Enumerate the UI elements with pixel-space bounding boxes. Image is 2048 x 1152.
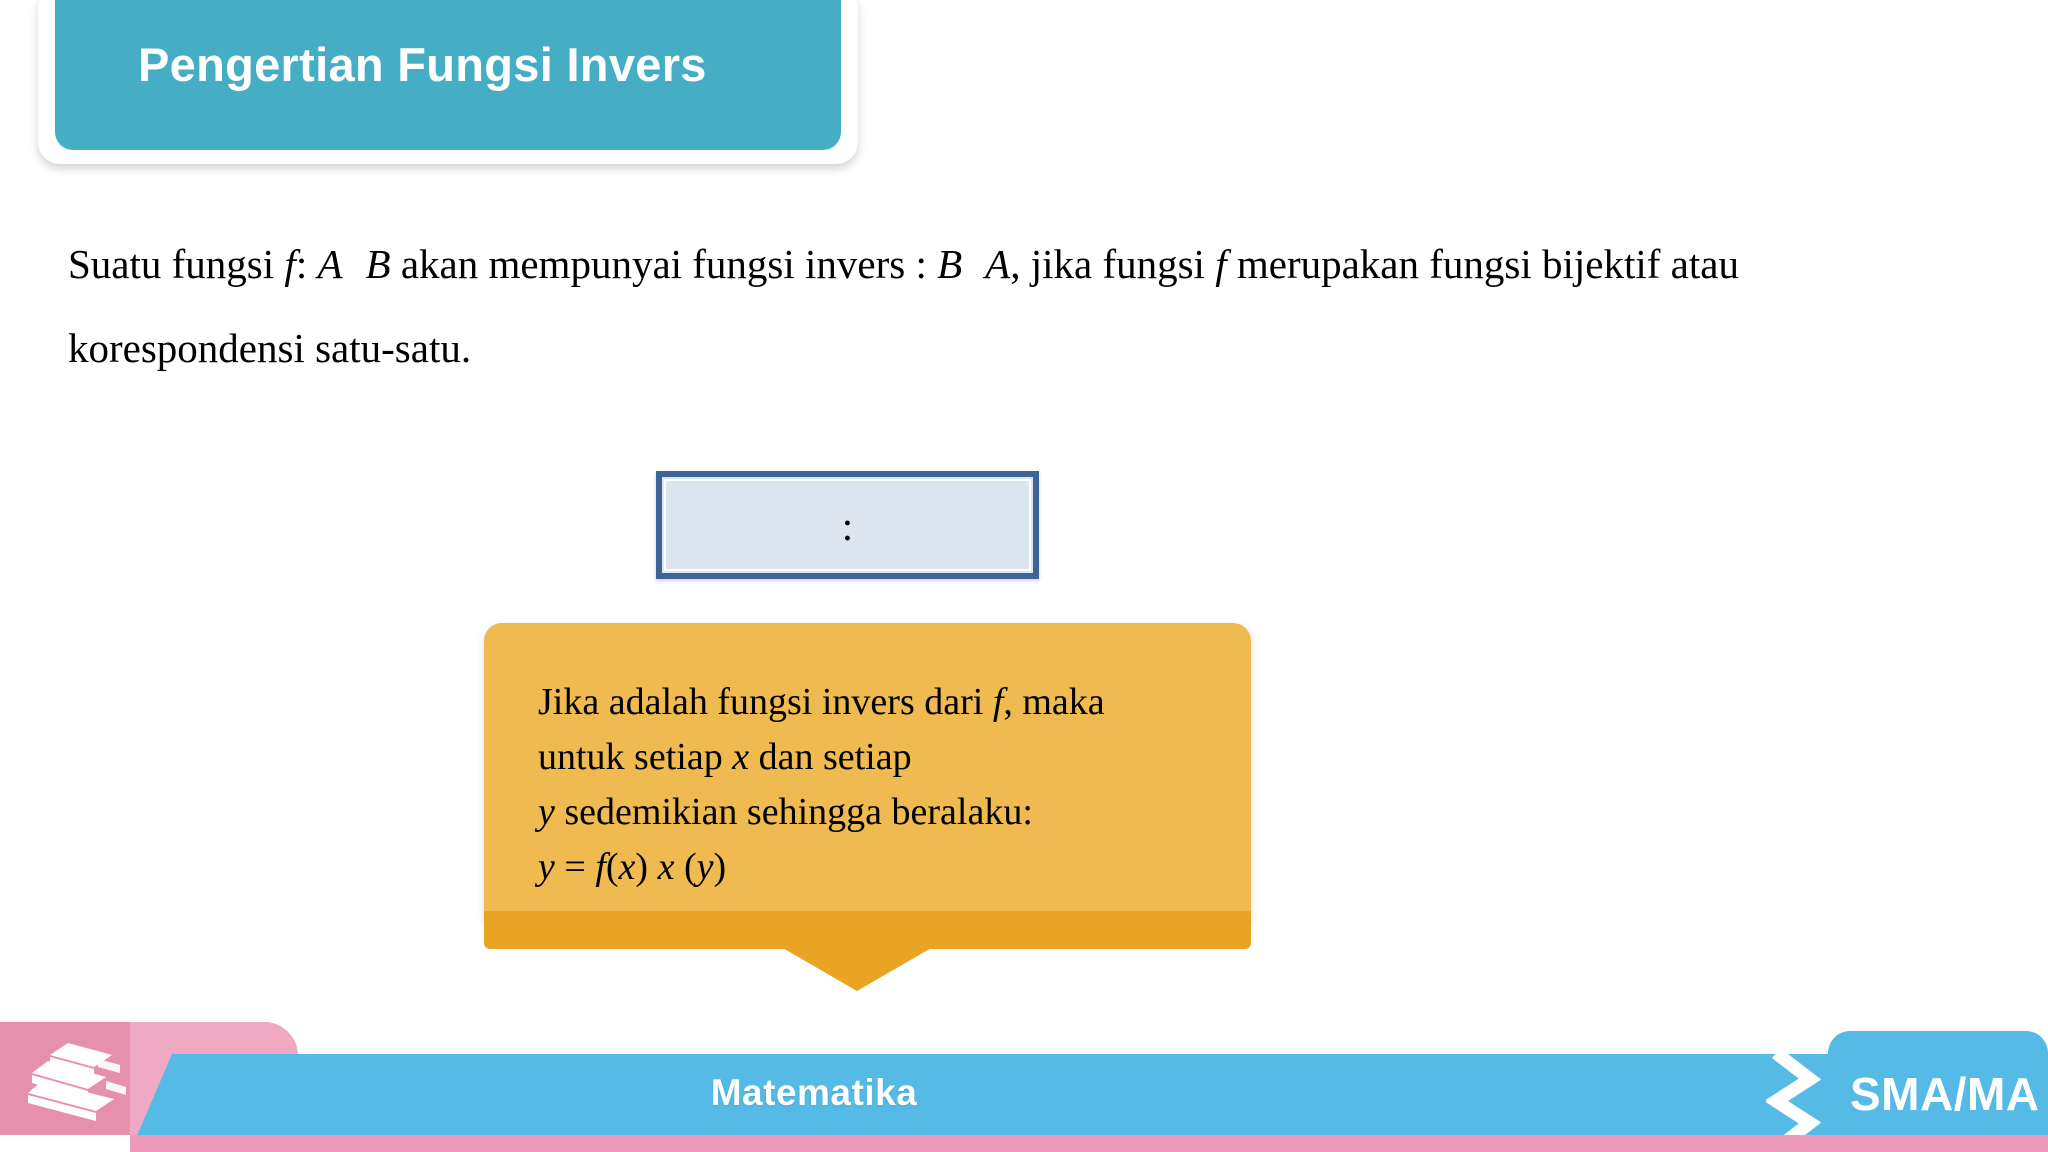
page-title: Pengertian Fungsi Invers xyxy=(55,37,707,92)
body-set-B: B xyxy=(366,241,391,287)
callout-line-3: y sedemikian sehingga beralaku: xyxy=(538,785,1238,840)
footer-bar: Matematika SMA/MA xyxy=(0,1017,2048,1152)
callout-line2-part2: dan setiap xyxy=(749,736,912,778)
footer-subject-label: Matematika xyxy=(0,1072,2048,1114)
callout-line3-part1: sedemikian sehingga beralaku: xyxy=(555,791,1033,833)
body-set-A2: A xyxy=(985,241,1010,287)
body-var-f2: f xyxy=(1215,241,1226,287)
callout-eq-tail-open: ( xyxy=(674,846,696,888)
callout-eq-x: x xyxy=(619,846,636,888)
formula-box-text: : xyxy=(842,506,853,547)
callout-eq-sign: = xyxy=(555,846,595,888)
body-var-f: f xyxy=(284,241,295,287)
title-banner: Pengertian Fungsi Invers xyxy=(55,0,841,150)
callout-var-y: y xyxy=(538,791,555,833)
callout-note: Jika adalah fungsi invers dari f, maka u… xyxy=(484,623,1251,963)
callout-eq-f: f xyxy=(595,846,606,888)
callout-line-4: y = f(x) x (y) xyxy=(538,840,1238,895)
callout-eq-y: y xyxy=(538,846,555,888)
callout-eq-x2: x xyxy=(658,846,675,888)
callout-var-x: x xyxy=(732,736,749,778)
callout-var-f: f xyxy=(993,681,1004,723)
callout-line-1: Jika adalah fungsi invers dari f, maka xyxy=(538,675,1238,730)
body-text-4: , jika fungsi xyxy=(1010,241,1215,287)
body-paragraph: Suatu fungsi f: AB akan mempunyai fungsi… xyxy=(68,222,1988,390)
body-text-3: akan mempunyai fungsi invers : xyxy=(391,241,938,287)
body-text-5: merupakan fungsi bijektif atau xyxy=(1227,241,1739,287)
footer-level-label: SMA/MA xyxy=(1850,1067,2040,1121)
callout-line-2: untuk setiap x dan setiap xyxy=(538,730,1238,785)
callout-eq-y2: y xyxy=(697,846,714,888)
footer-pink-strip xyxy=(130,1135,2048,1152)
slide-canvas: Pengertian Fungsi Invers Suatu fungsi f:… xyxy=(0,0,2048,1152)
callout-eq-paren-open: ( xyxy=(606,846,619,888)
callout-line1-part1: Jika adalah fungsi invers dari xyxy=(538,681,993,723)
callout-eq-paren-close: ) xyxy=(635,846,657,888)
body-text-1: Suatu fungsi xyxy=(68,241,284,287)
footer-pink-strip-right xyxy=(1828,1135,2048,1152)
footer-subject-text: Matematika xyxy=(711,1072,918,1113)
callout-line1-part2: , maka xyxy=(1003,681,1104,723)
callout-eq-tail-close: ) xyxy=(713,846,726,888)
callout-footer-strip xyxy=(484,911,1251,949)
body-set-A: A xyxy=(317,241,342,287)
body-line-2: korespondensi satu-satu. xyxy=(68,306,1988,390)
callout-line2-part1: untuk setiap xyxy=(538,736,732,778)
callout-tail-pointer xyxy=(781,947,933,991)
formula-box: : xyxy=(656,471,1039,579)
body-set-B2: B xyxy=(937,241,962,287)
body-text-2: : xyxy=(296,241,318,287)
callout-text: Jika adalah fungsi invers dari f, maka u… xyxy=(538,675,1238,895)
